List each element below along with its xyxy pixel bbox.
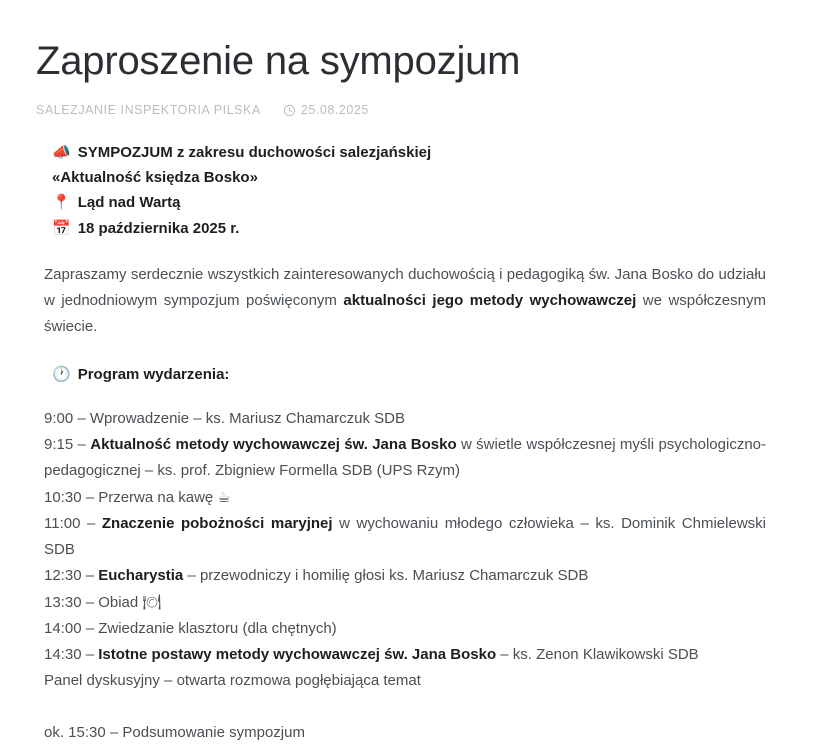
- schedule-bold: Znaczenie pobożności maryjnej: [102, 515, 333, 532]
- intro-location-text: Ląd nad Wartą: [78, 194, 181, 211]
- meta-date-group: 25.08.2025: [283, 102, 369, 118]
- coffee-emoji: ☕: [217, 484, 230, 510]
- intro-block: 📣SYMPOZJUM z zakresu duchowości salezjań…: [44, 140, 766, 241]
- megaphone-emoji: 📣: [52, 140, 71, 165]
- calendar-emoji: 📅: [52, 216, 71, 241]
- meta-date: 25.08.2025: [301, 102, 369, 118]
- lead-paragraph: Zapraszamy serdecznie wszystkich zainter…: [44, 262, 766, 340]
- schedule-pre: 10:30 – Przerwa na kawę: [44, 489, 213, 506]
- schedule-item-1030: 10:30 – Przerwa na kawę☕: [44, 484, 766, 511]
- schedule-list: 9:00 – Wprowadzenie – ks. Mariusz Chamar…: [44, 406, 766, 694]
- schedule-pre: 14:00 – Zwiedzanie klasztoru (dla chętny…: [44, 620, 337, 637]
- schedule-post: – ks. Zenon Klawikowski SDB: [496, 646, 699, 663]
- schedule-item-0900: 9:00 – Wprowadzenie – ks. Mariusz Chamar…: [44, 406, 766, 432]
- schedule-bold: Eucharystia: [98, 567, 183, 584]
- schedule-item-1400: 14:00 – Zwiedzanie klasztoru (dla chętny…: [44, 616, 766, 642]
- schedule-pre: 12:30 –: [44, 567, 98, 584]
- schedule-bold: Istotne postawy metody wychowawczej św. …: [98, 646, 496, 663]
- schedule-pre: Panel dyskusyjny – otwarta rozmowa pogłę…: [44, 672, 421, 689]
- plate-cutlery-emoji: 🍽: [142, 589, 161, 615]
- intro-line-subtitle: «Aktualność księdza Bosko»: [52, 166, 766, 191]
- intro-subtitle-text: «Aktualność księdza Bosko»: [52, 169, 258, 186]
- intro-line-location: 📍Ląd nad Wartą: [52, 190, 766, 216]
- schedule-item-1330: 13:30 – Obiad🍽: [44, 589, 766, 616]
- intro-line-date: 📅18 października 2025 r.: [52, 216, 766, 242]
- schedule-bold: Aktualność metody wychowawczej św. Jana …: [90, 436, 456, 453]
- schedule-item-1430: 14:30 – Istotne postawy metody wychowawc…: [44, 642, 766, 668]
- schedule-pre: 11:00 –: [44, 515, 102, 532]
- program-heading: 🕐Program wydarzenia:: [44, 362, 766, 387]
- meta-category: SALEZJANIE INSPEKTORIA PILSKA: [36, 102, 261, 118]
- location-pin-emoji: 📍: [52, 190, 71, 215]
- lead-text-bold: aktualności jego metody wychowawczej: [343, 292, 636, 309]
- intro-sympozjum-text: SYMPOZJUM z zakresu duchowości salezjańs…: [78, 144, 431, 161]
- clock-face-emoji: 🕐: [52, 362, 71, 386]
- intro-line-sympozjum: 📣SYMPOZJUM z zakresu duchowości salezjań…: [52, 140, 766, 166]
- intro-date-text: 18 października 2025 r.: [78, 220, 240, 237]
- schedule-post: – przewodniczy i homilię głosi ks. Mariu…: [183, 567, 588, 584]
- article-page: Zaproszenie na sympozjum SALEZJANIE INSP…: [0, 0, 814, 704]
- schedule-pre: 9:00 – Wprowadzenie – ks. Mariusz Chamar…: [44, 410, 405, 427]
- program-heading-text: Program wydarzenia:: [78, 366, 230, 383]
- schedule-item-panel: Panel dyskusyjny – otwarta rozmowa pogłę…: [44, 668, 766, 694]
- schedule-item-0915: 9:15 – Aktualność metody wychowawczej św…: [44, 432, 766, 484]
- schedule-pre: 13:30 – Obiad: [44, 594, 138, 611]
- schedule-item-1230: 12:30 – Eucharystia – przewodniczy i hom…: [44, 563, 766, 589]
- schedule-item-1100: 11:00 – Znaczenie pobożności maryjnej w …: [44, 511, 766, 563]
- schedule-pre: 9:15 –: [44, 436, 90, 453]
- article-header: Zaproszenie na sympozjum SALEZJANIE INSP…: [0, 0, 814, 118]
- article-body: 📣SYMPOZJUM z zakresu duchowości salezjań…: [0, 140, 814, 746]
- clock-icon: [283, 104, 296, 117]
- schedule-pre: 14:30 –: [44, 646, 98, 663]
- schedule-closing: ok. 15:30 – Podsumowanie sympozjum: [44, 720, 766, 746]
- page-title: Zaproszenie na sympozjum: [36, 36, 774, 86]
- article-meta: SALEZJANIE INSPEKTORIA PILSKA 25.08.2025: [36, 102, 774, 118]
